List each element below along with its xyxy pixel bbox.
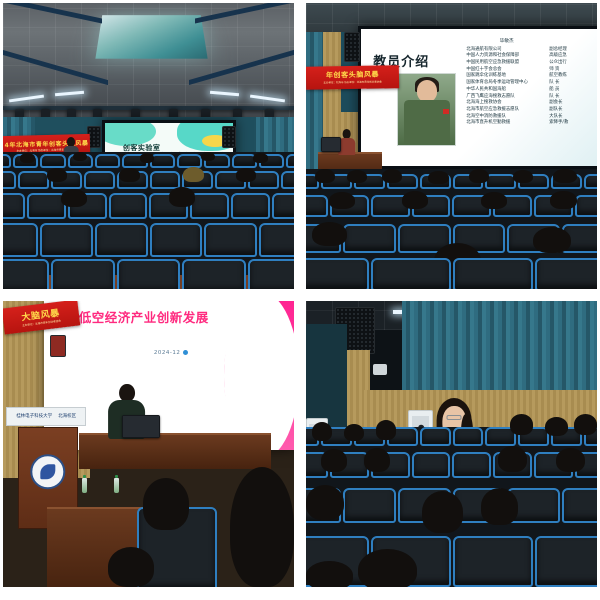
credential-role: 队 长 [549,80,597,87]
seat [51,259,115,289]
slide-date: 2024-12 [154,350,188,356]
audience-head [498,446,527,472]
seat [231,193,270,219]
red-banner: 年创客头脑风暴 主办单位：北海市 协办单位：北海市青年创业者协会 [306,65,399,89]
credential-row: 国家体育总局冬季运动管理中心队 长 [466,80,597,87]
slide-instructor-intro: 教员介绍 毕敏杰 北海通航有限公司副总经理 中国人力资源和社会保障部高级应急 中… [361,29,597,166]
audience-head [306,561,353,587]
audience-head [513,170,533,183]
audience-head [321,449,347,471]
seat [248,259,294,289]
seat [190,193,229,219]
seat [3,223,38,257]
panel-top-right[interactable]: 教员介绍 毕敏杰 北海通航有限公司副总经理 中国人力资源和社会保障部高级应急 中… [306,3,597,289]
projection-screen: 教员介绍 毕敏杰 北海通航有限公司副总经理 中国人力资源和社会保障部高级应急 中… [358,26,597,169]
audience-head [312,422,332,441]
collage-grid: 创客实验室 2024年北海市青年创客头脑风暴 4年北海市青年创客头脑风暴 主办单… [3,3,597,591]
audience-head [306,485,344,520]
seat [150,171,181,189]
credential-org: 北海海上搜救协会 [466,100,549,107]
seat [584,174,597,190]
seat [485,174,516,190]
audience-head [73,152,88,162]
seat [535,258,598,289]
audience-head [183,167,203,182]
credential-org: 中华人民共和国海船 [466,87,549,94]
audience-head [236,168,256,182]
wall-speaker [344,32,361,63]
laptop [122,415,160,438]
audience-head [169,187,195,206]
audience-head [61,189,87,207]
audience-head [533,227,571,253]
photo-collage: 创客实验室 2024年北海市青年创客头脑风暴 4年北海市青年创客头脑风暴 主办单… [0,0,600,600]
audience-head [347,170,367,183]
seat [272,193,294,219]
credential-role: 副队长 [549,107,597,114]
seat [117,259,181,289]
audience-head [230,467,294,587]
audience-head [402,191,428,209]
slide-arc-cutout [224,301,294,450]
audience-head [422,491,463,533]
audience-head [574,414,597,435]
seat [453,536,533,587]
audience-head [143,478,190,529]
ceiling-skylight [95,15,207,59]
stage-curtain [402,301,597,393]
instructor-photo [397,73,456,146]
venue-plaque: 桂林电子科技大学 北海校区 [6,407,87,426]
panel-bottom-left[interactable]: 低空经济产业创新发展 2024-12 大脑风暴 主办单位：北海市青年创业者协会 … [3,301,294,587]
credential-org: 北海市航空应急救援志愿队 [466,107,549,114]
panel-bottom-right[interactable] [306,301,597,587]
credential-role: 船 员 [549,87,597,94]
credential-org: 国家体育总局冬季运动管理中心 [466,80,549,87]
seat [3,154,11,168]
audience-head [329,192,355,209]
seat [343,488,396,523]
seat [27,193,66,219]
audience-seating [306,427,597,587]
audience-head [382,169,402,183]
seat [95,223,148,257]
audience-head [201,152,216,162]
credential-role: 公众出行 [549,60,597,67]
audience-head [312,222,347,246]
audience-seating [3,152,294,289]
seat [575,195,597,217]
seat [286,154,294,168]
credential-row: 北海海上搜救协会副会长 [466,100,597,107]
audience-head [364,448,390,472]
seat [3,171,16,189]
seat [95,154,120,168]
seat [452,452,491,478]
credential-row: 中华人民共和国海船船 员 [466,87,597,94]
audience-head [376,420,396,439]
water-bottle [114,478,119,493]
plaque-text-right: 北海校区 [58,413,76,419]
glasses-icon [447,415,462,420]
school-crest-icon [30,454,65,489]
water-bottle [82,478,87,493]
photo-uniform [404,100,450,144]
seat [40,154,65,168]
credential-org: 北海市直升机空勤救援 [466,120,549,127]
seat [204,223,257,257]
audience-head [119,168,139,182]
photo-head [417,80,436,101]
instructor-credentials: 北海通航有限公司副总经理 中国人力资源和社会保障部高级应急 中国民用航空应急救援… [466,47,597,127]
seat-row [306,452,597,478]
audience-head [481,488,519,525]
seat [182,259,246,289]
panel-top-left[interactable]: 创客实验室 2024年北海市青年创客头脑风暴 4年北海市青年创客头脑风暴 主办单… [3,3,294,289]
seat [3,193,25,219]
audience-head [469,169,489,183]
audience-head [481,192,507,209]
audience-head [428,171,448,184]
audience-head [20,153,35,163]
seat [453,258,533,289]
audience-head [510,414,533,435]
seat [40,223,93,257]
seat [306,258,369,289]
seat [18,171,49,189]
banner-line-2: 主办单位：北海市 协办单位：北海市青年创业者协会 [323,80,381,85]
seat [177,154,202,168]
credential-role: 索降手/救 [549,120,597,127]
audience-head [556,448,585,472]
credential-row: 北海市航空应急救援志愿队副队长 [466,107,597,114]
audience-head [553,169,576,183]
audience-seating [306,169,597,289]
audience-head [545,417,568,436]
seat [343,224,396,253]
slide-bullet-icon [183,350,188,355]
credential-role: 副会长 [549,100,597,107]
projection-screen: 低空经济产业创新发展 2024-12 [44,301,294,450]
seat [259,223,294,257]
seat-row [3,259,294,289]
slide-date-text: 2024-12 [154,350,180,356]
instructor-name: 毕敏杰 [500,38,514,44]
audience-head [253,153,268,163]
seat [412,452,451,478]
audience-head [47,168,67,182]
audience-head [108,547,155,587]
seat [306,195,328,217]
audience-head [315,169,335,183]
credential-row: 中国民用航空应急救援联盟公众出行 [466,60,597,67]
credential-org: 中国民用航空应急救援联盟 [466,60,549,67]
seat [84,171,115,189]
seat [281,171,294,189]
seat [371,258,451,289]
audience-head [344,424,364,442]
seat [453,427,484,446]
seat [420,427,451,446]
laptop [321,137,341,151]
credential-row: 北海市直升机空勤救援索降手/救 [466,120,597,127]
seat-row [306,258,597,289]
photo-flag-patch [443,109,448,114]
seat-row [3,223,294,257]
slide-title: 低空经济产业创新发展 [79,307,209,326]
audience-head [358,549,416,587]
projector-icon [373,364,388,375]
audience-head [550,191,576,209]
wall-speaker [222,126,236,148]
audience-head [140,153,155,163]
seat [109,193,148,219]
wall-speaker [50,335,67,357]
slide-low-altitude-economy: 低空经济产业创新发展 2024-12 [44,301,294,450]
seat [535,536,598,587]
seat [562,488,597,523]
seat-row [3,193,294,219]
plaque-text-left: 桂林电子科技大学 [16,413,52,419]
seat [150,223,203,257]
seat [3,259,49,289]
